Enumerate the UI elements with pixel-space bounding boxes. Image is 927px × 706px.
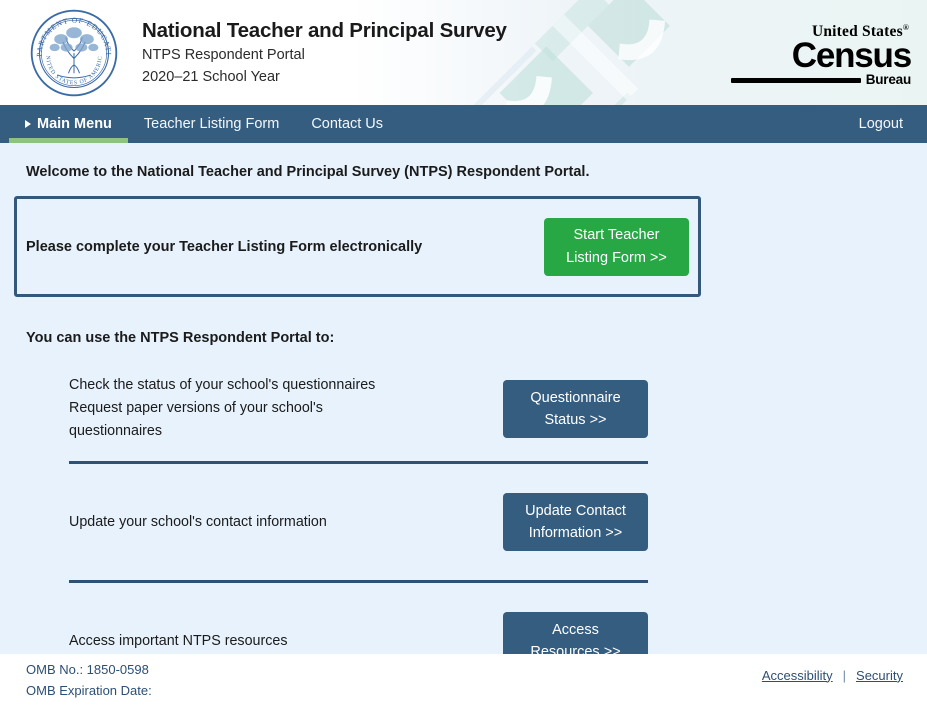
census-logo-wordmark: Census (731, 40, 911, 72)
use-line: questionnaires (69, 420, 487, 443)
census-logo-bureau: Bureau (866, 73, 911, 87)
update-contact-button-line1: Update Contact (525, 503, 626, 519)
security-link[interactable]: Security (856, 668, 903, 683)
use-row-questionnaire-status: Check the status of your school's questi… (69, 374, 648, 443)
accessibility-link[interactable]: Accessibility (762, 668, 833, 683)
page-footer: OMB No.: 1850-0598 OMB Expiration Date: … (0, 654, 927, 706)
use-row-update-contact-information-text: Update your school's contact information (69, 511, 503, 534)
use-row-update-contact-information: Update your school's contact information… (69, 491, 648, 553)
uses-section-title: You can use the NTPS Respondent Portal t… (0, 297, 927, 346)
use-row-access-resources: Access important NTPS resources Access R… (69, 610, 648, 654)
use-line: Check the status of your school's questi… (69, 374, 487, 397)
update-contact-button-line2: Information >> (529, 525, 623, 541)
omb-info: OMB No.: 1850-0598 OMB Expiration Date: (26, 659, 152, 701)
questionnaire-status-button-line1: Questionnaire (530, 390, 620, 406)
start-teacher-listing-form-button[interactable]: Start Teacher Listing Form >> (544, 218, 689, 276)
census-logo-bar (731, 78, 861, 83)
nav-item-teacher-listing-form-label: Teacher Listing Form (144, 116, 279, 132)
use-line: Request paper versions of your school's (69, 397, 487, 420)
teacher-listing-form-callout: Please complete your Teacher Listing For… (14, 196, 701, 297)
main-content: Welcome to the National Teacher and Prin… (0, 143, 927, 654)
nav-item-main-menu-label: Main Menu (37, 116, 112, 132)
callout-text: Please complete your Teacher Listing For… (26, 239, 544, 255)
access-resources-button[interactable]: Access Resources >> (503, 612, 648, 654)
school-year: 2020–21 School Year (142, 70, 507, 85)
portal-subtitle: NTPS Respondent Portal (142, 48, 507, 63)
start-tlf-button-line1: Start Teacher (574, 227, 660, 243)
start-tlf-button-line2: Listing Form >> (566, 250, 667, 266)
use-row-questionnaire-status-text: Check the status of your school's questi… (69, 374, 503, 443)
update-contact-information-button[interactable]: Update Contact Information >> (503, 493, 648, 551)
access-resources-button-line1: Access (552, 622, 599, 638)
welcome-message: Welcome to the National Teacher and Prin… (0, 143, 927, 180)
registered-mark-icon: ® (903, 23, 909, 32)
omb-expiration-date: OMB Expiration Date: (26, 680, 152, 701)
footer-links: Accessibility | Security (762, 668, 903, 693)
use-line: Access important NTPS resources (69, 630, 487, 653)
use-row-access-resources-text: Access important NTPS resources (69, 630, 503, 653)
questionnaire-status-button-line2: Status >> (544, 412, 606, 428)
access-resources-button-line2: Resources >> (530, 644, 620, 654)
logout-link[interactable]: Logout (859, 116, 903, 132)
dept-of-education-seal-icon: DEPARTMENT OF EDUCATION UNITED STATES OF… (28, 7, 120, 99)
header-title-block: National Teacher and Principal Survey NT… (142, 20, 507, 86)
uses-list: Check the status of your school's questi… (0, 356, 927, 654)
nav-item-contact-us[interactable]: Contact Us (295, 105, 399, 143)
nav-item-teacher-listing-form[interactable]: Teacher Listing Form (128, 105, 295, 143)
census-bureau-logo: United States® Census Bureau (731, 24, 911, 86)
page-header: DEPARTMENT OF EDUCATION UNITED STATES OF… (0, 0, 927, 105)
use-line: Update your school's contact information (69, 511, 487, 534)
page-title: National Teacher and Principal Survey (142, 20, 507, 42)
nav-item-contact-us-label: Contact Us (311, 116, 383, 132)
questionnaire-status-button[interactable]: Questionnaire Status >> (503, 380, 648, 438)
omb-number: OMB No.: 1850-0598 (26, 659, 152, 680)
triangle-right-icon (25, 120, 31, 128)
main-navigation: Main Menu Teacher Listing Form Contact U… (0, 105, 927, 143)
nav-item-main-menu[interactable]: Main Menu (9, 105, 128, 143)
footer-link-separator: | (843, 668, 846, 683)
